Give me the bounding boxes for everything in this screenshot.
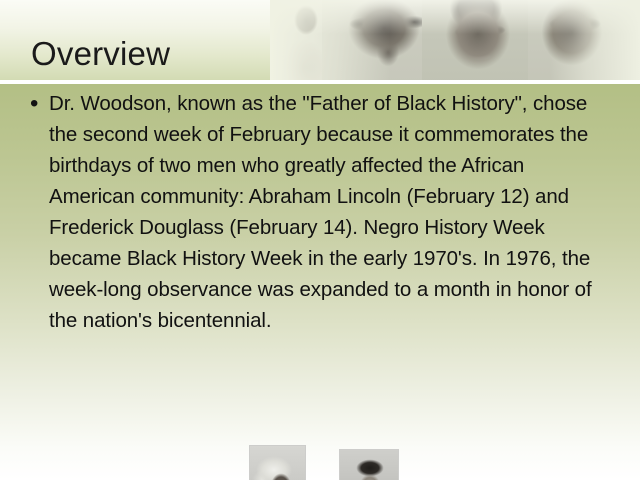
body-paragraph: Dr. Woodson, known as the "Father of Bla…: [49, 88, 610, 336]
bullet-point-icon: •: [30, 88, 49, 119]
header-photo-fade-left: [270, 0, 390, 80]
slide-header-band: Overview: [0, 0, 640, 80]
portrait-abraham-lincoln: [339, 449, 399, 480]
slide-body: • Dr. Woodson, known as the "Father of B…: [0, 84, 640, 480]
header-photo-montage: [270, 0, 640, 80]
bullet-list-item: • Dr. Woodson, known as the "Father of B…: [30, 88, 610, 336]
portrait-douglass-image: [250, 446, 305, 480]
slide-canvas: Overview • Dr. Woodson, known as the "Fa…: [0, 0, 640, 480]
portrait-lincoln-image: [340, 450, 398, 480]
slide-title: Overview: [31, 34, 170, 74]
header-photo-fade-right: [550, 0, 640, 80]
portrait-frederick-douglass: [249, 445, 306, 480]
